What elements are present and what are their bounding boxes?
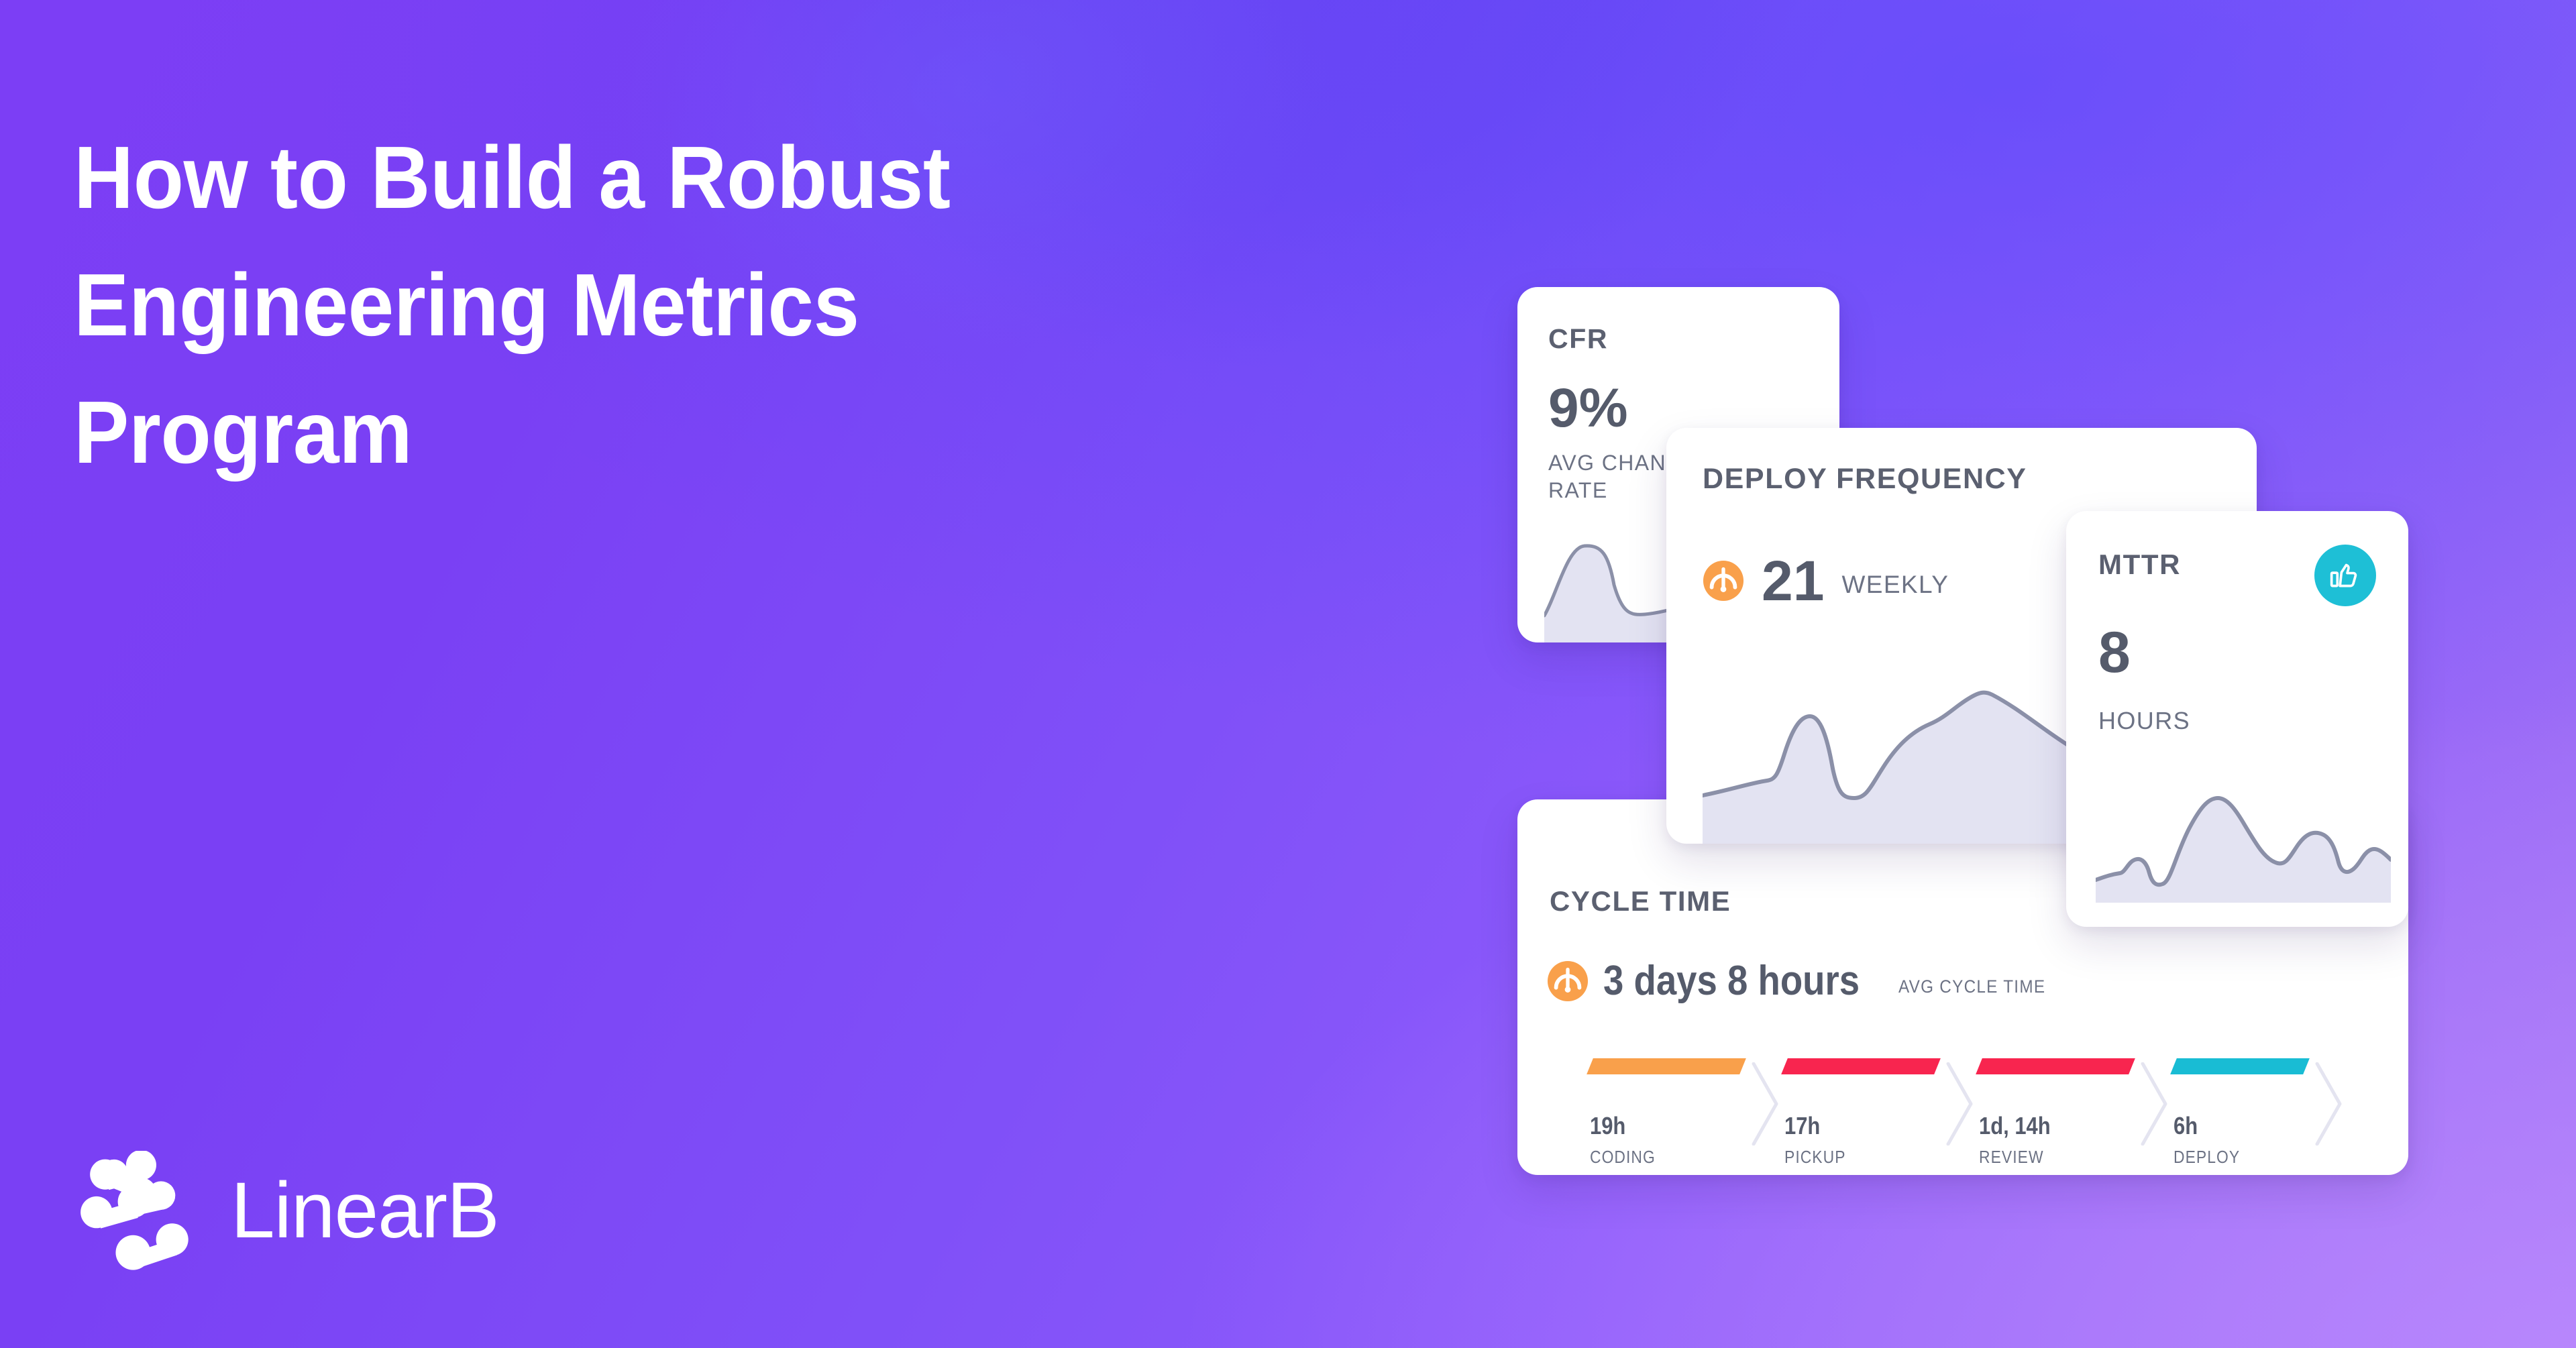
deploy-frequency-unit: WEEKLY bbox=[1841, 571, 1949, 599]
mttr-value: 8 bbox=[2098, 624, 2131, 681]
mttr-card-title: MTTR bbox=[2098, 549, 2181, 581]
stage-bar bbox=[1587, 1058, 1746, 1074]
brand-name: LinearB bbox=[231, 1171, 499, 1250]
metric-card-mttr[interactable]: MTTR 8 HOURS bbox=[2066, 511, 2408, 927]
cycle-time-value-row: 3 days 8 hours AVG CYCLE TIME bbox=[1547, 960, 2062, 1002]
stage-time: 1d, 14h bbox=[1979, 1112, 2110, 1140]
cycle-time-stage: 6h DEPLOY bbox=[2173, 1058, 2306, 1168]
stage-time: 17h bbox=[1784, 1112, 1916, 1140]
mttr-sparkline bbox=[2096, 769, 2391, 903]
stage-time: 6h bbox=[2173, 1112, 2288, 1140]
chevron-separator-icon bbox=[1750, 1062, 1782, 1145]
stage-bar bbox=[1976, 1058, 2135, 1074]
cycle-time-stage: 17h PICKUP bbox=[1784, 1058, 1937, 1168]
chevron-separator-icon bbox=[1944, 1062, 1976, 1145]
cycle-time-card-title: CYCLE TIME bbox=[1550, 885, 1731, 917]
page-title-line-1: How to Build a Robust bbox=[74, 114, 1366, 241]
gauge-icon bbox=[1547, 960, 1589, 1002]
chevron-separator-icon bbox=[2139, 1062, 2171, 1145]
gauge-icon bbox=[1703, 560, 1744, 602]
stage-name: CODING bbox=[1590, 1147, 1725, 1168]
cfr-value: 9% bbox=[1548, 381, 1628, 436]
cycle-time-stage: 19h CODING bbox=[1590, 1058, 1743, 1168]
linearb-nodes-logo-icon bbox=[72, 1151, 200, 1275]
brand-logo: LinearB bbox=[72, 1151, 499, 1275]
thumbs-up-icon bbox=[2328, 558, 2363, 593]
mttr-unit: HOURS bbox=[2098, 707, 2190, 735]
cycle-time-stage: 1d, 14h REVIEW bbox=[1979, 1058, 2132, 1168]
stage-name: REVIEW bbox=[1979, 1147, 2114, 1168]
deploy-frequency-value: 21 bbox=[1762, 553, 1824, 609]
stage-name: PICKUP bbox=[1784, 1147, 1919, 1168]
cycle-time-value: 3 days 8 hours bbox=[1603, 960, 1860, 1002]
page-title: How to Build a Robust Engineering Metric… bbox=[74, 114, 1366, 496]
cycle-time-caption: AVG CYCLE TIME bbox=[1898, 976, 2045, 997]
stage-bar bbox=[2170, 1058, 2310, 1074]
stage-time: 19h bbox=[1590, 1112, 1721, 1140]
cfr-card-title: CFR bbox=[1548, 323, 1608, 355]
page-title-line-2: Engineering Metrics bbox=[74, 241, 1366, 369]
stage-name: DEPLOY bbox=[2173, 1147, 2290, 1168]
mttr-status-badge bbox=[2314, 545, 2376, 606]
deploy-frequency-card-title: DEPLOY FREQUENCY bbox=[1703, 463, 2027, 496]
cycle-time-stage-track: 19h CODING 17h PICKUP 1d, 14h REVIEW bbox=[1590, 1058, 2368, 1145]
deploy-frequency-value-row: 21 WEEKLY bbox=[1703, 553, 1949, 609]
stage-bar bbox=[1781, 1058, 1941, 1074]
page-title-line-3: Program bbox=[74, 369, 1366, 496]
chevron-separator-icon bbox=[2313, 1062, 2345, 1145]
hero-banner: How to Build a Robust Engineering Metric… bbox=[0, 0, 2576, 1348]
